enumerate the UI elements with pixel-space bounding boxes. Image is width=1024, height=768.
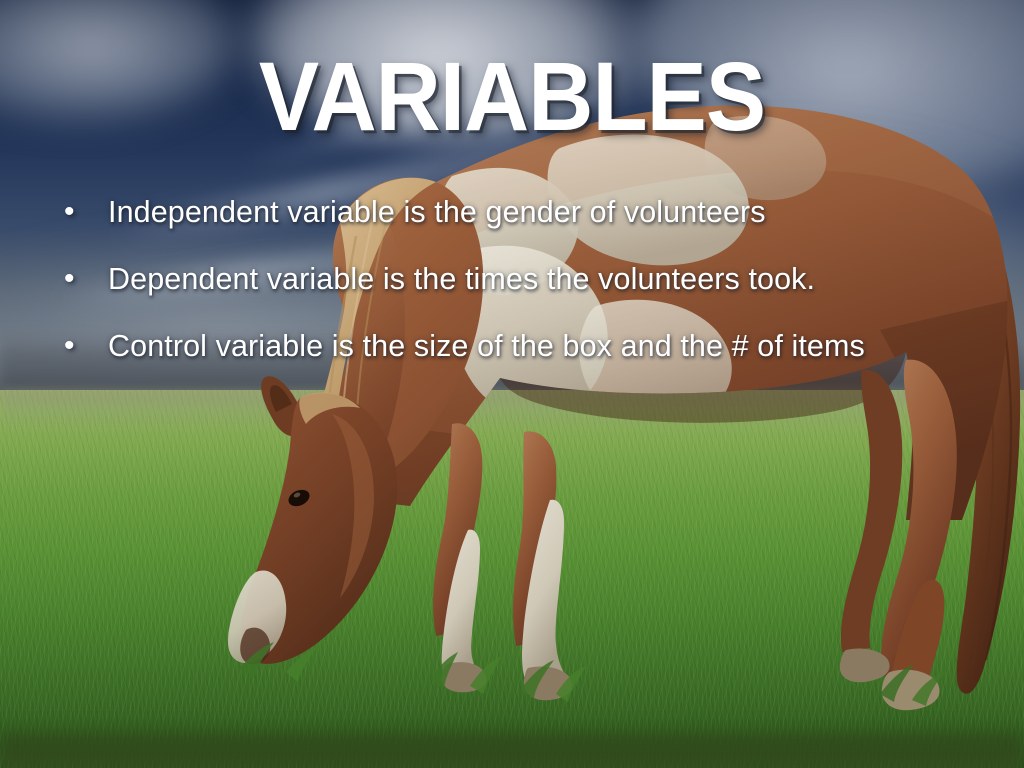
list-item: • Independent variable is the gender of …	[52, 190, 1024, 257]
horse-hind-legs	[840, 360, 957, 711]
list-item: • Control variable is the size of the bo…	[52, 324, 1024, 391]
bullet-marker-icon: •	[52, 324, 108, 368]
bullet-text: Dependent variable is the times the volu…	[108, 257, 1024, 301]
list-item: • Dependent variable is the times the vo…	[52, 257, 1024, 324]
presentation-slide: VARIABLES • Independent variable is the …	[0, 0, 1024, 768]
bullet-marker-icon: •	[52, 190, 108, 234]
bullet-text: Control variable is the size of the box …	[108, 324, 1024, 368]
foreground-blur-band	[0, 724, 1024, 768]
page-title: VARIABLES	[36, 48, 988, 145]
bullet-marker-icon: •	[52, 257, 108, 301]
bullet-text: Independent variable is the gender of vo…	[108, 190, 1024, 234]
bullet-list: • Independent variable is the gender of …	[52, 190, 1024, 391]
horse-head	[228, 376, 397, 664]
foreground-grass-tufts	[240, 642, 944, 706]
